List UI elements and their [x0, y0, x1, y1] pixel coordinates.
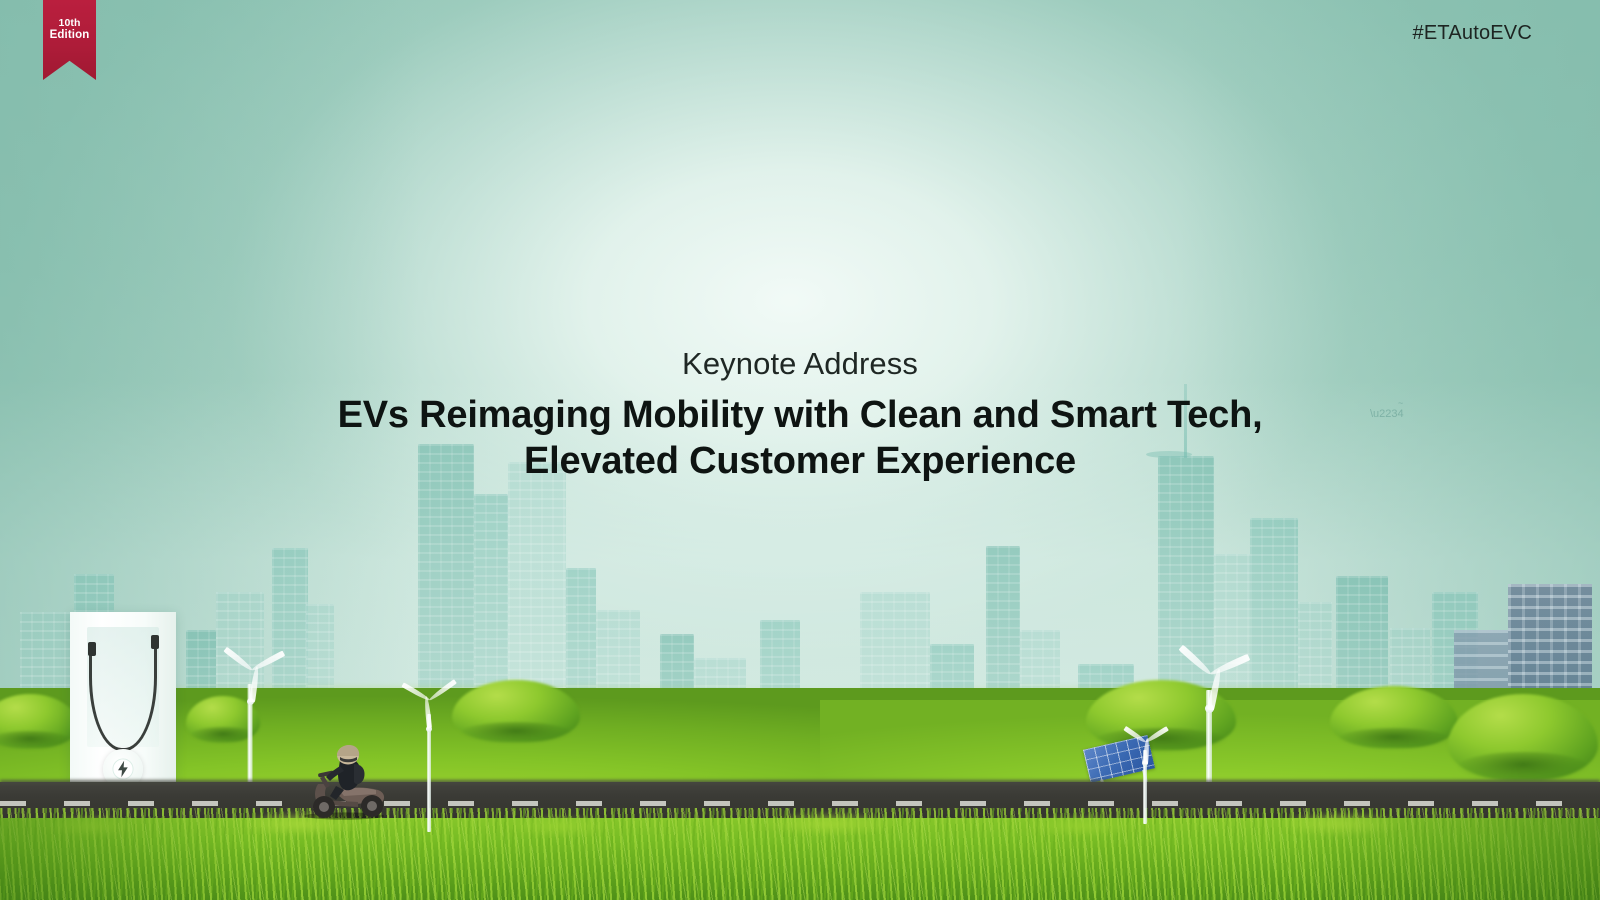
lightning-bolt-icon: [112, 758, 134, 780]
wind-turbine: [214, 668, 286, 796]
slide-headline: EVs Reimaging Mobility with Clean and Sm…: [0, 392, 1600, 485]
cable-plug-icon: [88, 642, 96, 656]
wind-turbine: [1116, 740, 1174, 824]
ev-charging-station[interactable]: [70, 612, 176, 800]
grass-right-shade: [1300, 818, 1600, 900]
slide-title-block: Keynote Address EVs Reimaging Mobility w…: [0, 348, 1600, 485]
wind-turbine: [396, 700, 462, 832]
event-hashtag: #ETAutoEVC: [1413, 22, 1532, 45]
grass-left-shade: [0, 818, 260, 900]
slide-headline-line-2: Elevated Customer Experience: [0, 438, 1600, 484]
cable-plug-icon: [151, 635, 159, 649]
ribbon-line-1: 10th: [59, 18, 81, 29]
slide-canvas: \u2234 ~ ~: [0, 0, 1600, 900]
ribbon-line-2: Edition: [50, 29, 90, 41]
slide-headline-line-1: EVs Reimaging Mobility with Clean and Sm…: [0, 392, 1600, 438]
slide-eyebrow: Keynote Address: [0, 348, 1600, 379]
electric-scooter: [296, 744, 392, 820]
